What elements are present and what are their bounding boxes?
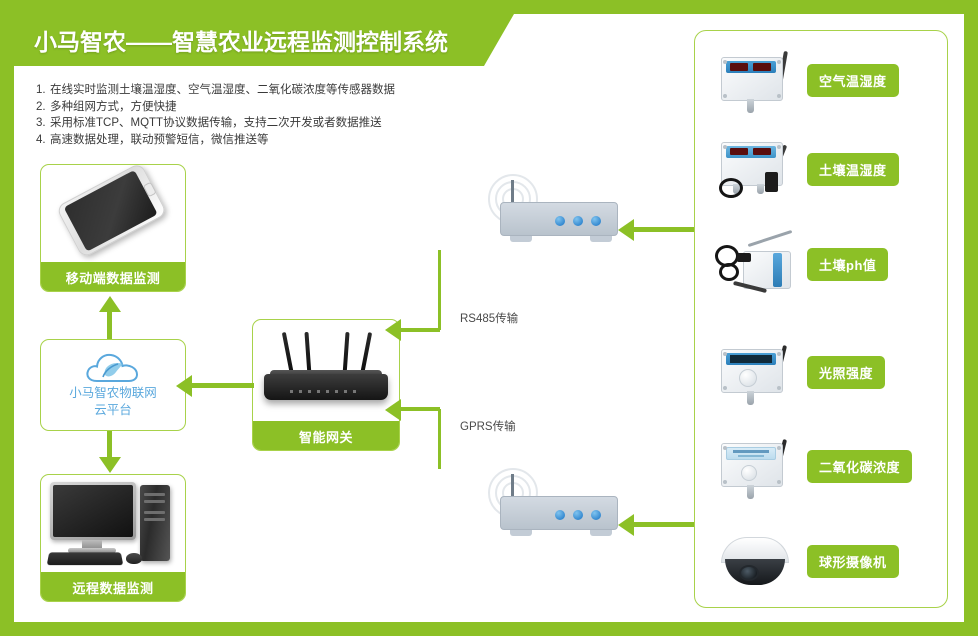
sensor-label: 球形摄像机 xyxy=(807,545,899,578)
feature-text: 在线实时监测土壤温湿度、空气温湿度、二氧化碳浓度等传感器数据 xyxy=(50,84,395,96)
node-mobile-monitoring[interactable]: 移动端数据监测 xyxy=(40,164,186,292)
co2-sensor-icon xyxy=(703,426,807,506)
feature-number: 1. xyxy=(36,82,50,99)
arrow-left-icon xyxy=(176,375,192,397)
node-smart-gateway[interactable]: 智能网关 xyxy=(252,319,400,451)
air-temp-humidity-sensor-icon xyxy=(703,40,807,120)
node-mobile-label: 移动端数据监测 xyxy=(40,262,186,293)
connector-gprs-horizontal xyxy=(400,407,440,411)
feature-number: 3. xyxy=(36,115,50,132)
connector-sensors-to-dtu-bottom xyxy=(634,522,694,527)
arrow-up-icon xyxy=(99,296,121,312)
feature-list: 1.在线实时监测土壤温湿度、空气温湿度、二氧化碳浓度等传感器数据 2.多种组网方… xyxy=(36,82,506,148)
light-intensity-sensor-icon xyxy=(703,332,807,412)
connector-cloud-to-pc xyxy=(107,431,112,459)
feature-item: 4.高速数据处理，联动预警短信，微信推送等 xyxy=(36,132,506,149)
cloud-leaf-icon xyxy=(85,351,141,385)
desktop-computer-icon xyxy=(41,475,185,571)
cloud-label-line2: 云平台 xyxy=(94,402,132,419)
connector-rs485-vertical xyxy=(438,250,441,330)
node-cloud-platform[interactable]: 小马智农物联网 云平台 xyxy=(40,339,186,431)
header-banner: 小马智农——智慧农业远程监测控制系统 xyxy=(14,14,514,66)
node-pc-label: 远程数据监测 xyxy=(40,572,186,603)
sensor-label: 空气温湿度 xyxy=(807,64,899,97)
soil-temp-humidity-sensor-icon xyxy=(703,129,807,209)
cloud-label-line1: 小马智农物联网 xyxy=(69,385,157,402)
feature-item: 3.采用标准TCP、MQTT协议数据传输，支持二次开发或者数据推送 xyxy=(36,115,506,132)
connection-label-rs485: RS485传输 xyxy=(460,310,518,326)
node-gateway-label: 智能网关 xyxy=(252,421,400,452)
arrow-left-icon xyxy=(618,219,634,241)
feature-text: 高速数据处理，联动预警短信，微信推送等 xyxy=(50,134,269,146)
arrow-left-icon xyxy=(385,319,401,341)
arrow-down-icon xyxy=(99,457,121,473)
page-title: 小马智农——智慧农业远程监测控制系统 xyxy=(14,23,448,57)
sensor-item-soil-temp-humidity[interactable]: 土壤温湿度 xyxy=(695,126,947,212)
connector-gateway-to-cloud xyxy=(192,383,254,388)
sensor-item-dome-camera[interactable]: 球形摄像机 xyxy=(695,518,947,604)
sensor-label: 土壤ph值 xyxy=(807,248,888,281)
feature-item: 2.多种组网方式，方便快捷 xyxy=(36,99,506,116)
sensor-label: 光照强度 xyxy=(807,356,885,389)
connector-sensors-to-dtu-top xyxy=(634,227,694,232)
dtu-modem-icon xyxy=(480,172,620,250)
feature-number: 4. xyxy=(36,132,50,149)
feature-number: 2. xyxy=(36,99,50,116)
connector-rs485-horizontal xyxy=(400,328,440,332)
node-dtu-bottom[interactable] xyxy=(480,466,640,558)
smartphone-icon xyxy=(41,165,185,261)
sensor-label: 二氧化碳浓度 xyxy=(807,450,912,483)
diagram-page: 小马智农——智慧农业远程监测控制系统 1.在线实时监测土壤温湿度、空气温湿度、二… xyxy=(0,0,978,636)
feature-item: 1.在线实时监测土壤温湿度、空气温湿度、二氧化碳浓度等传感器数据 xyxy=(36,82,506,99)
connector-gprs-vertical xyxy=(438,409,441,469)
feature-text: 采用标准TCP、MQTT协议数据传输，支持二次开发或者数据推送 xyxy=(50,117,382,129)
node-dtu-top[interactable] xyxy=(480,172,640,264)
sensor-item-air-temp-humidity[interactable]: 空气温湿度 xyxy=(695,37,947,123)
node-remote-monitoring[interactable]: 远程数据监测 xyxy=(40,474,186,602)
connection-label-gprs: GPRS传输 xyxy=(460,418,516,434)
soil-ph-sensor-icon xyxy=(703,224,807,304)
dtu-modem-icon xyxy=(480,466,620,544)
arrow-left-icon xyxy=(618,514,634,536)
sensor-item-light-intensity[interactable]: 光照强度 xyxy=(695,329,947,415)
sensor-item-soil-ph[interactable]: 土壤ph值 xyxy=(695,221,947,307)
arrow-left-icon xyxy=(385,399,401,421)
diagram-canvas: 小马智农——智慧农业远程监测控制系统 1.在线实时监测土壤温湿度、空气温湿度、二… xyxy=(14,14,964,622)
connector-cloud-to-mobile xyxy=(107,309,112,339)
wifi-router-icon xyxy=(253,320,399,420)
dome-camera-icon xyxy=(703,521,807,601)
sensor-label: 土壤温湿度 xyxy=(807,153,899,186)
sensor-panel: 空气温湿度 xyxy=(694,30,948,608)
sensor-item-co2[interactable]: 二氧化碳浓度 xyxy=(695,423,947,509)
feature-text: 多种组网方式，方便快捷 xyxy=(50,101,177,113)
